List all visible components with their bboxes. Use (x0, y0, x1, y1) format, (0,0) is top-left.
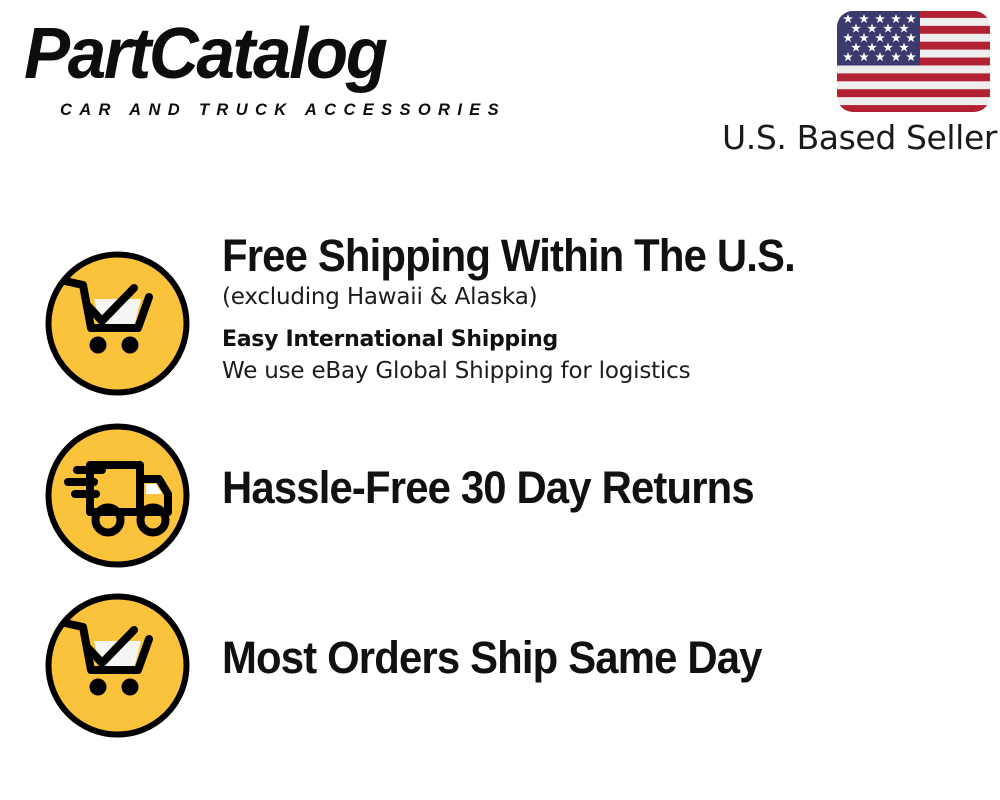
shopping-cart-check-icon (44, 250, 191, 397)
us-flag-icon (836, 10, 991, 113)
page-header: PartCatalog CAR AND TRUCK ACCESSORIES (0, 0, 1000, 175)
feature-text-block: Most Orders Ship Same Day (222, 634, 982, 681)
delivery-truck-icon (44, 422, 191, 569)
feature-subtext: We use eBay Global Shipping for logistic… (222, 357, 982, 386)
feature-note: (excluding Hawaii & Alaska) (222, 283, 982, 312)
us-based-seller-label: U.S. Based Seller (722, 118, 990, 157)
feature-row: Free Shipping Within The U.S. (excluding… (0, 232, 1000, 402)
feature-heading: Hassle-Free 30 Day Returns (222, 464, 929, 511)
feature-heading: Free Shipping Within The U.S. (222, 232, 929, 279)
feature-row: Hassle-Free 30 Day Returns (0, 422, 1000, 592)
feature-row: Most Orders Ship Same Day (0, 592, 1000, 762)
brand-tagline: CAR AND TRUCK ACCESSORIES (60, 100, 506, 120)
feature-text-block: Free Shipping Within The U.S. (excluding… (222, 232, 982, 385)
feature-text-block: Hassle-Free 30 Day Returns (222, 464, 982, 511)
feature-subheading: Easy International Shipping (222, 326, 982, 354)
brand-wordmark: PartCatalog (24, 18, 386, 90)
shopping-cart-check-icon (44, 592, 191, 739)
brand-logo: PartCatalog CAR AND TRUCK ACCESSORIES (24, 20, 494, 115)
feature-heading: Most Orders Ship Same Day (222, 634, 929, 681)
